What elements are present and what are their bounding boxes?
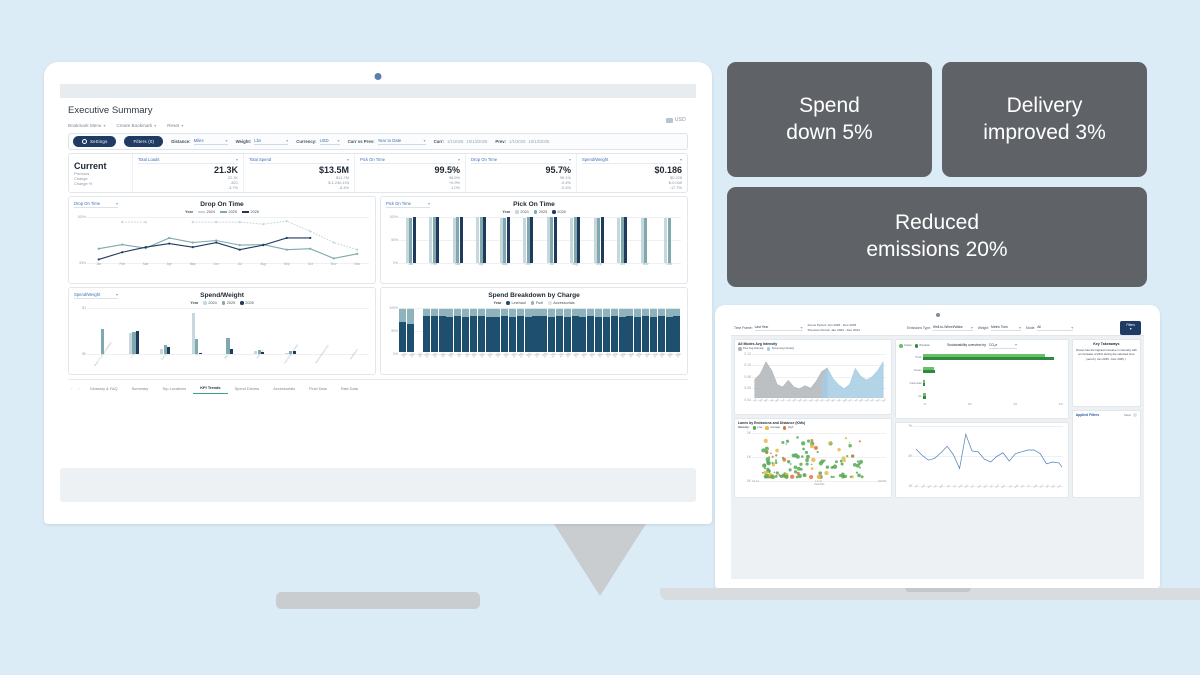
data-point[interactable]: [770, 474, 774, 478]
data-point[interactable]: [811, 457, 816, 462]
prev-label: Prev:: [495, 139, 506, 144]
drop-on-time-selector[interactable]: Drop On Time ▾: [74, 201, 118, 208]
data-point[interactable]: [309, 230, 311, 232]
data-point[interactable]: [286, 249, 288, 251]
prev-to-date[interactable]: 10/13/2025: [528, 139, 549, 144]
data-point[interactable]: [818, 471, 822, 475]
data-point[interactable]: [833, 475, 835, 477]
data-point[interactable]: [859, 466, 861, 468]
curr-vs-prev-field[interactable]: Curr vs Prev: Year to Date ▾: [348, 138, 426, 145]
stack-segment: [666, 317, 673, 352]
data-point[interactable]: [764, 475, 767, 478]
data-point[interactable]: [192, 246, 194, 248]
curr-to-date[interactable]: 10/13/2026: [466, 139, 487, 144]
hbar-row[interactable]: Intermodal: [899, 377, 1062, 390]
emissions-type-value: Well-to-Wheel/Wake: [933, 325, 963, 329]
data-point[interactable]: [215, 221, 217, 223]
distance-field[interactable]: Distance: Miles ▾: [171, 138, 227, 145]
bar[interactable]: [554, 217, 557, 263]
prev-from-date[interactable]: 1/1/2025: [509, 139, 525, 144]
data-point[interactable]: [766, 441, 767, 442]
legend-item[interactable]: 2026: [242, 210, 259, 214]
data-point[interactable]: [763, 470, 767, 474]
data-point[interactable]: [239, 221, 241, 223]
data-point[interactable]: [824, 470, 828, 474]
data-point[interactable]: [811, 467, 814, 470]
weight-field[interactable]: Weight: Metric Tons ▾: [978, 325, 1021, 332]
data-point[interactable]: [192, 221, 194, 223]
bar[interactable]: [644, 218, 647, 263]
data-point[interactable]: [858, 462, 861, 465]
hbar[interactable]: [923, 393, 926, 396]
stacked-bar[interactable]: [611, 308, 618, 352]
stacked-bar[interactable]: [478, 308, 485, 352]
mode-label: Mode:: [1026, 326, 1035, 330]
stacked-bar[interactable]: [564, 308, 571, 352]
sustainability-filters-button[interactable]: Filters ▼: [1120, 321, 1141, 335]
bar-group[interactable]: [470, 217, 494, 263]
hbar[interactable]: [923, 354, 1045, 357]
kpi-selector[interactable]: Pick On Time▾: [360, 157, 460, 164]
data-point[interactable]: [833, 464, 837, 468]
stacked-bar[interactable]: [493, 308, 500, 352]
data-point[interactable]: [810, 439, 813, 442]
data-point[interactable]: [192, 241, 194, 243]
data-point[interactable]: [801, 455, 804, 458]
data-point[interactable]: [805, 462, 808, 465]
kpi-selector[interactable]: Spend/Weight▾: [582, 157, 682, 164]
data-point[interactable]: [794, 465, 798, 469]
x-axis: JanFebMarAprMayJunJulAugSepOctNovDec: [399, 263, 681, 273]
tab-bar: ‹›Glossary & FAQSummaryTop LocationsKPI …: [68, 379, 688, 394]
tab-top-locations[interactable]: Top Locations: [155, 384, 193, 394]
bookmark-menu-label: Bookmark Menu: [68, 123, 101, 128]
data-point[interactable]: [775, 454, 777, 456]
data-point[interactable]: [775, 461, 778, 464]
legend-item[interactable]: Accessorials: [548, 301, 574, 305]
hbar[interactable]: [923, 357, 1054, 360]
stacked-bar[interactable]: [540, 308, 547, 352]
mode-select[interactable]: All ▾: [1037, 325, 1073, 332]
data-point[interactable]: [790, 474, 794, 478]
bar-group[interactable]: [150, 308, 181, 354]
spend-weight-selector[interactable]: Spend/Weight ▾: [74, 292, 118, 299]
weight-field[interactable]: Weight: Lbs ▾: [236, 138, 289, 145]
stack-segment: [431, 316, 438, 352]
stacked-bar[interactable]: [454, 308, 461, 352]
legend-item[interactable]: 2026: [240, 301, 253, 305]
data-point[interactable]: [807, 439, 810, 442]
data-point[interactable]: [846, 455, 848, 457]
data-point[interactable]: [787, 460, 790, 463]
data-point[interactable]: [98, 248, 100, 250]
currency-select[interactable]: USD ▾: [320, 138, 340, 145]
tab-summary[interactable]: Summary: [125, 384, 156, 394]
data-point[interactable]: [819, 461, 823, 465]
bar-group[interactable]: [564, 217, 588, 263]
hbar-row[interactable]: Ocean: [899, 364, 1062, 377]
hbar-row[interactable]: Truck: [899, 351, 1062, 364]
stacked-bar[interactable]: [470, 308, 477, 352]
data-point[interactable]: [356, 253, 358, 255]
data-point[interactable]: [168, 242, 170, 244]
hbar[interactable]: [923, 396, 926, 399]
curr-vs-prev-select[interactable]: Year to Date ▾: [378, 138, 426, 145]
bar[interactable]: [293, 351, 296, 354]
weight-select[interactable]: Lbs ▾: [254, 138, 288, 145]
kpi-selector[interactable]: Total Loads▾: [138, 157, 238, 164]
stacked-bar[interactable]: [446, 308, 453, 352]
tabs-prev-arrow[interactable]: ‹: [68, 386, 75, 391]
stacked-bar[interactable]: [626, 308, 633, 352]
stacked-bar[interactable]: [415, 308, 422, 352]
stacked-bar[interactable]: [525, 308, 532, 352]
data-point[interactable]: [239, 244, 241, 246]
reset-bookmark-item[interactable]: Reset ▾: [167, 123, 183, 128]
bar-group[interactable]: [540, 217, 564, 263]
data-point[interactable]: [797, 466, 801, 470]
data-point[interactable]: [333, 241, 335, 243]
stacked-bar[interactable]: [548, 308, 555, 352]
data-point[interactable]: [859, 440, 861, 442]
data-point[interactable]: [98, 258, 100, 260]
bar-group[interactable]: [118, 308, 149, 354]
data-point[interactable]: [829, 441, 832, 444]
data-point[interactable]: [806, 454, 810, 458]
data-point[interactable]: [851, 454, 854, 457]
data-point[interactable]: [817, 474, 821, 478]
legend-item[interactable]: 2024: [203, 301, 216, 305]
bar-group[interactable]: [611, 217, 635, 263]
bar[interactable]: [624, 217, 627, 263]
stack-segment: [603, 317, 610, 352]
bar[interactable]: [436, 217, 439, 263]
data-point[interactable]: [792, 453, 796, 457]
chevron-down-icon: ▾: [116, 201, 118, 206]
bar[interactable]: [136, 331, 139, 354]
bar[interactable]: [577, 217, 580, 263]
legend-item[interactable]: 2025: [534, 210, 547, 214]
bar[interactable]: [199, 353, 202, 354]
data-point[interactable]: [356, 249, 358, 251]
create-bookmark-item[interactable]: Create Bookmark ▾: [116, 123, 156, 128]
legend-item[interactable]: 2024: [198, 210, 215, 214]
data-point[interactable]: [794, 470, 797, 473]
tab-raw-data[interactable]: Raw Data: [334, 384, 365, 394]
legend-item[interactable]: Focus: [899, 344, 911, 348]
bar-group[interactable]: [399, 217, 423, 263]
data-point[interactable]: [785, 443, 787, 445]
data-point[interactable]: [786, 439, 789, 442]
stacked-bar[interactable]: [431, 308, 438, 352]
data-point[interactable]: [775, 459, 777, 461]
previous-date-range[interactable]: Prev: 1/1/2025 10/13/2025: [495, 139, 549, 144]
kpi-title: Drop On Time: [471, 157, 497, 162]
stacked-bar[interactable]: [532, 308, 539, 352]
data-point[interactable]: [145, 246, 147, 248]
data-point[interactable]: [826, 465, 829, 468]
data-point[interactable]: [782, 457, 786, 461]
legend-item[interactable]: 2026: [552, 210, 565, 214]
filters-button[interactable]: Filters (0): [124, 136, 163, 147]
stack-segment: [407, 309, 414, 324]
kpi-selector[interactable]: Total Spend▾: [249, 157, 349, 164]
chevron-down-icon: ▾: [154, 123, 156, 128]
bar[interactable]: [195, 339, 198, 354]
tab-kpi-trends[interactable]: KPI Trends: [193, 383, 227, 394]
data-point[interactable]: [841, 456, 845, 460]
data-point[interactable]: [845, 437, 847, 439]
data-point[interactable]: [857, 460, 859, 462]
data-point[interactable]: [781, 440, 784, 443]
data-point[interactable]: [803, 473, 807, 477]
filters-label: Filters (0): [133, 139, 154, 144]
data-point[interactable]: [810, 444, 814, 448]
bar[interactable]: [101, 329, 104, 354]
data-point[interactable]: [775, 474, 778, 477]
tab-glossary-faq[interactable]: Glossary & FAQ: [83, 384, 125, 394]
bar[interactable]: [460, 217, 463, 263]
data-point[interactable]: [762, 471, 764, 473]
data-point[interactable]: [811, 463, 813, 465]
bar-group[interactable]: [634, 217, 658, 263]
stacked-bar[interactable]: [619, 308, 626, 352]
stacked-bar[interactable]: [486, 308, 493, 352]
bar[interactable]: [668, 218, 671, 263]
data-point[interactable]: [796, 436, 799, 439]
stacked-bar[interactable]: [439, 308, 446, 352]
sustainability-metric-select[interactable]: CO₂e ▾: [989, 342, 1017, 349]
data-point[interactable]: [774, 471, 776, 473]
weight-select[interactable]: Metric Tons ▾: [991, 325, 1021, 332]
stacked-bar[interactable]: [509, 308, 516, 352]
data-point[interactable]: [765, 450, 768, 453]
stacked-bar[interactable]: [642, 308, 649, 352]
stacked-bar[interactable]: [517, 308, 524, 352]
bar[interactable]: [601, 217, 604, 263]
data-point[interactable]: [764, 464, 766, 466]
callout-emissions-line2: emissions 20%: [866, 237, 1007, 264]
data-point[interactable]: [817, 450, 819, 452]
data-point[interactable]: [796, 475, 799, 478]
legend-item[interactable]: 2024: [515, 210, 528, 214]
emissions-type-select[interactable]: Well-to-Wheel/Wake ▾: [933, 325, 973, 332]
bar-group[interactable]: [306, 308, 337, 354]
currency-field[interactable]: Currency: USD ▾: [296, 138, 339, 145]
data-point[interactable]: [333, 257, 335, 259]
data-point[interactable]: [765, 446, 769, 450]
data-point[interactable]: [799, 462, 802, 465]
stacked-bar[interactable]: [666, 308, 673, 352]
data-point[interactable]: [782, 473, 786, 477]
stacked-bar[interactable]: [462, 308, 469, 352]
time-frame-select[interactable]: Last Year ▾: [755, 325, 803, 332]
data-point[interactable]: [262, 223, 264, 225]
data-point[interactable]: [121, 221, 123, 223]
stacked-bar[interactable]: [579, 308, 586, 352]
tab-fluid-data[interactable]: Fluid Data: [302, 384, 334, 394]
mode-field[interactable]: Mode: All ▾: [1026, 325, 1073, 332]
data-point[interactable]: [801, 441, 805, 445]
hbar[interactable]: [923, 383, 924, 386]
bar-group[interactable]: [338, 308, 369, 354]
data-point[interactable]: [837, 447, 841, 451]
data-point[interactable]: [766, 460, 771, 465]
data-point[interactable]: [309, 248, 311, 250]
stacked-bar[interactable]: [407, 308, 414, 352]
stacked-bar[interactable]: [673, 308, 680, 352]
bar[interactable]: [483, 217, 486, 263]
stacked-bar[interactable]: [587, 308, 594, 352]
y-tick-label: 0.10: [744, 363, 751, 367]
legend-item[interactable]: Low: [753, 426, 763, 430]
data-point[interactable]: [856, 471, 858, 473]
legend-item[interactable]: Previous: [915, 344, 930, 348]
data-point[interactable]: [849, 441, 850, 442]
bar-group[interactable]: [244, 308, 275, 354]
hbar[interactable]: [923, 370, 935, 373]
data-point[interactable]: [775, 448, 779, 452]
data-point[interactable]: [239, 249, 241, 251]
data-point[interactable]: [861, 475, 864, 478]
tab-accessorials[interactable]: Accessorials: [266, 384, 302, 394]
data-point[interactable]: [824, 459, 826, 461]
bar[interactable]: [413, 217, 416, 263]
hbar[interactable]: [923, 367, 933, 370]
current-date-range[interactable]: Curr: 1/1/2026 10/13/2026: [434, 139, 488, 144]
data-point[interactable]: [121, 244, 123, 246]
legend-item[interactable]: Fuel: [531, 301, 543, 305]
curr-from-date[interactable]: 1/1/2026: [447, 139, 463, 144]
distance-select[interactable]: Miles ▾: [194, 138, 228, 145]
data-point[interactable]: [831, 475, 833, 477]
bar-group[interactable]: [493, 217, 517, 263]
bar-group[interactable]: [87, 308, 118, 354]
hbar-row[interactable]: Air: [899, 390, 1062, 403]
stack-segment: [486, 317, 493, 352]
bar[interactable]: [530, 217, 533, 263]
hbar[interactable]: [923, 380, 925, 383]
bar[interactable]: [507, 217, 510, 263]
bookmark-menu-item[interactable]: Bookmark Menu ▾: [68, 123, 105, 128]
stacked-bar[interactable]: [556, 308, 563, 352]
stacked-bar[interactable]: [423, 308, 430, 352]
kpi-card-spend-weight: Spend/Weight▾$0.186$0.226$-0.040-17.7%: [577, 154, 687, 192]
data-point[interactable]: [770, 452, 772, 454]
data-point[interactable]: [789, 468, 792, 471]
stacked-bar[interactable]: [399, 308, 406, 352]
stacked-bar[interactable]: [650, 308, 657, 352]
data-point[interactable]: [841, 472, 845, 476]
legend-item[interactable]: High: [783, 426, 793, 430]
stacked-bar[interactable]: [501, 308, 508, 352]
currency-chip-icon: [666, 118, 673, 123]
data-point[interactable]: [805, 458, 809, 462]
legend-item[interactable]: 2025: [220, 210, 237, 214]
x-axis: 0.0 mil1.0 mil100.00KTotal KMs: [752, 481, 886, 491]
legend-item[interactable]: Focus Avg Intensity: [767, 347, 794, 351]
data-point[interactable]: [262, 244, 264, 246]
time-frame-field[interactable]: Time Frame: Last Year ▾: [734, 325, 803, 332]
legend-item[interactable]: Linehaul: [506, 301, 525, 305]
legend-item[interactable]: Average: [765, 426, 780, 430]
data-point[interactable]: [309, 237, 311, 239]
data-point[interactable]: [797, 471, 800, 474]
bar-group[interactable]: [658, 217, 682, 263]
data-point[interactable]: [841, 462, 844, 465]
data-point[interactable]: [286, 237, 288, 239]
x-tick-label: 0K: [923, 404, 926, 413]
kpi-selector[interactable]: Drop On Time▾: [471, 157, 571, 164]
data-point[interactable]: [121, 251, 123, 253]
stacked-bar[interactable]: [572, 308, 579, 352]
data-point[interactable]: [766, 467, 769, 470]
data-point[interactable]: [215, 239, 217, 241]
y-tick-label: 100%: [77, 215, 86, 219]
data-point[interactable]: [145, 221, 147, 223]
data-point[interactable]: [809, 474, 813, 478]
data-point[interactable]: [857, 473, 861, 477]
data-point[interactable]: [168, 237, 170, 239]
monthly-emissions-plot: 7K4K1KJanFebMarAprMayJunJulAugSepOctNovD…: [899, 426, 1064, 496]
clear-filters-button[interactable]: Clear: [1124, 413, 1137, 417]
data-point[interactable]: [768, 456, 770, 458]
stacked-bar[interactable]: [658, 308, 665, 352]
data-point[interactable]: [802, 447, 805, 450]
tabs-next-arrow[interactable]: ›: [75, 386, 82, 391]
legend-item[interactable]: Prev Avg Intensity: [738, 347, 764, 351]
stacked-bar[interactable]: [595, 308, 602, 352]
data-point[interactable]: [814, 445, 818, 449]
bar-group[interactable]: [517, 217, 541, 263]
data-point[interactable]: [850, 475, 852, 477]
data-point[interactable]: [835, 460, 838, 463]
bar-group[interactable]: [181, 308, 212, 354]
bar-group[interactable]: [275, 308, 306, 354]
data-point[interactable]: [778, 474, 780, 476]
data-point[interactable]: [772, 455, 774, 457]
tab-spend-drivers[interactable]: Spend Drivers: [228, 384, 267, 394]
bar[interactable]: [167, 347, 170, 354]
bar[interactable]: [261, 352, 264, 354]
data-point[interactable]: [215, 241, 217, 243]
data-point[interactable]: [286, 220, 288, 222]
callout-delivery-line1: Delivery: [983, 93, 1106, 120]
bar-group[interactable]: [446, 217, 470, 263]
bar[interactable]: [230, 349, 233, 354]
stacked-bar[interactable]: [603, 308, 610, 352]
bar-group[interactable]: [423, 217, 447, 263]
filter-toolbar: Settings Filters (0) Distance: Miles ▾ W…: [68, 133, 688, 150]
data-point[interactable]: [776, 471, 779, 474]
data-point[interactable]: [848, 443, 852, 447]
settings-button[interactable]: Settings: [73, 136, 116, 147]
bar-group[interactable]: [212, 308, 243, 354]
data-point[interactable]: [851, 475, 853, 477]
legend-item[interactable]: 2025: [222, 301, 235, 305]
data-point[interactable]: [771, 461, 773, 463]
data-point[interactable]: [786, 474, 788, 476]
data-point[interactable]: [790, 463, 792, 465]
kpi-card-drop-on-time: Drop On Time▾95.7%96.1%-0.4%-0.4%: [466, 154, 577, 192]
pick-on-time-selector[interactable]: Pick On Time ▾: [386, 201, 430, 208]
data-point[interactable]: [805, 450, 808, 453]
data-point[interactable]: [853, 463, 857, 467]
emissions-type-field[interactable]: Emissions Type: Well-to-Wheel/Wake ▾: [907, 325, 973, 332]
stacked-bar[interactable]: [634, 308, 641, 352]
y-tick-label: 0.06: [744, 386, 751, 390]
bar-group[interactable]: [587, 217, 611, 263]
